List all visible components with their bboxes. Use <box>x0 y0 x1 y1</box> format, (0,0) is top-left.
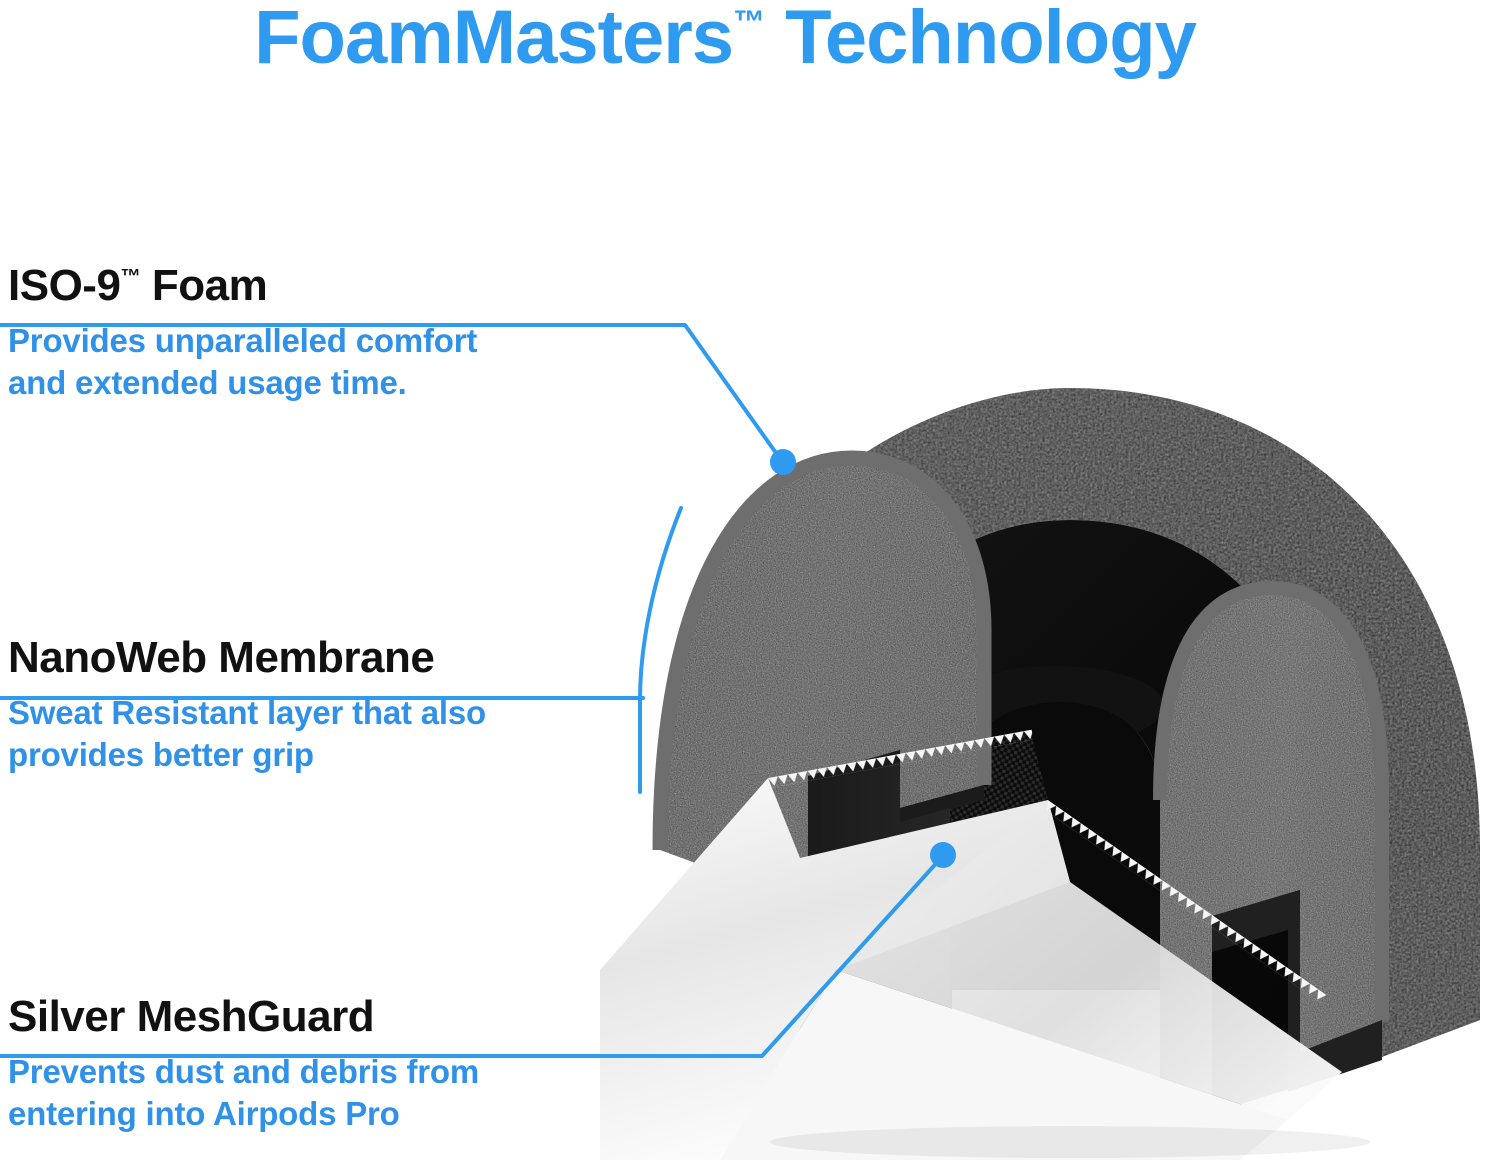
contact-shadow <box>770 1126 1370 1158</box>
page-title: FoamMasters™ Technology <box>0 0 1450 78</box>
callout-body-line: Provides unparalleled comfort <box>8 320 668 362</box>
callout-nanoweb-membrane: NanoWeb Membrane Sweat Resistant layer t… <box>8 634 668 776</box>
page-title-rest: Technology <box>765 0 1196 80</box>
page-title-main: FoamMasters <box>254 0 733 80</box>
callout-body-line: and extended usage time. <box>8 362 668 404</box>
callout-body-iso-9-foam: Provides unparalleled comfort and extend… <box>8 320 668 404</box>
callout-heading-main: NanoWeb Membrane <box>8 633 434 682</box>
callout-heading-main: Silver MeshGuard <box>8 992 374 1041</box>
callout-body-line: entering into Airpods Pro <box>8 1093 668 1135</box>
callout-body-line: provides better grip <box>8 734 668 776</box>
callout-body-line: Sweat Resistant layer that also <box>8 692 668 734</box>
callout-silver-meshguard: Silver MeshGuard Prevents dust and debri… <box>8 993 668 1135</box>
callout-body-silver-meshguard: Prevents dust and debris from entering i… <box>8 1051 668 1135</box>
infographic-root: FoamMasters™ Technology <box>0 0 1500 1172</box>
callout-heading-iso-9-foam: ISO-9™ Foam <box>8 262 668 310</box>
callout-heading-main: ISO-9 <box>8 261 120 310</box>
callout-heading-nanoweb-membrane: NanoWeb Membrane <box>8 634 668 682</box>
trademark-symbol: ™ <box>120 266 140 288</box>
callout-iso-9-foam: ISO-9™ Foam Provides unparalleled comfor… <box>8 262 668 404</box>
callout-heading-rest: Foam <box>140 261 267 310</box>
callout-body-nanoweb-membrane: Sweat Resistant layer that also provides… <box>8 692 668 776</box>
trademark-symbol: ™ <box>733 4 765 40</box>
product-illustration <box>600 330 1500 1160</box>
callout-heading-silver-meshguard: Silver MeshGuard <box>8 993 668 1041</box>
callout-body-line: Prevents dust and debris from <box>8 1051 668 1093</box>
